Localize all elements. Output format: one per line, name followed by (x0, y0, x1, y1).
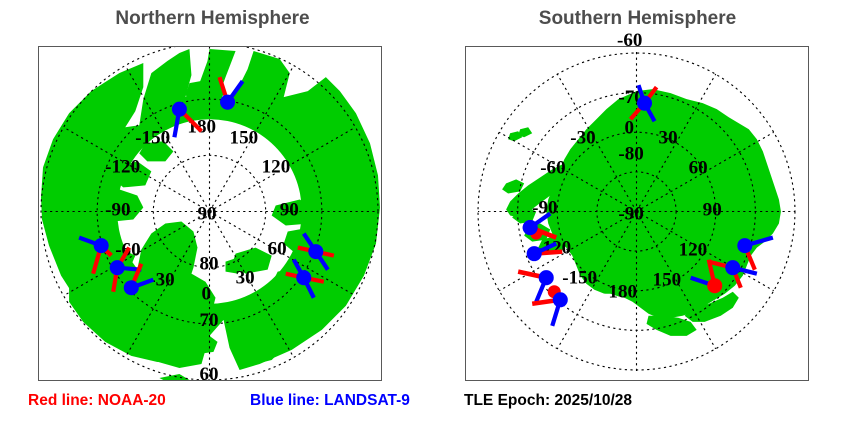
southern-lat-label-neg60: -60 (617, 30, 642, 52)
sat-marker (637, 96, 652, 111)
lon-label-neg30: -30 (570, 127, 595, 148)
lat-label-neg90: -90 (618, 204, 643, 225)
southern-polar-plot: 0 30 60 90 120 150 180 -150 -120 -90 -60… (466, 47, 808, 380)
lat-label-neg80: -80 (618, 143, 643, 164)
northern-hemisphere-panel: Northern Hemisphere (0, 0, 425, 390)
lat-label-80: 80 (199, 254, 218, 275)
sat-marker-group (532, 285, 568, 326)
southern-plot-frame: 0 30 60 90 120 150 180 -150 -120 -90 -60… (465, 46, 809, 381)
lon-label-90: 90 (280, 200, 299, 221)
sat-marker-group (518, 270, 554, 302)
lon-label-neg60: -60 (540, 157, 565, 178)
lon-label-60: 60 (689, 157, 708, 178)
southern-hemisphere-title: Southern Hemisphere (425, 8, 850, 30)
sat-marker (124, 280, 139, 295)
northern-hemisphere-title: Northern Hemisphere (0, 8, 425, 30)
sat-marker (220, 95, 235, 110)
lon-label-neg90: -90 (105, 200, 130, 221)
southern-hemisphere-panel: Southern Hemisphere (425, 0, 850, 390)
sat-marker (94, 238, 109, 253)
lat-label-90: 90 (197, 204, 216, 225)
sat-marker (527, 246, 542, 261)
sat-marker (172, 102, 187, 117)
sat-marker (110, 260, 125, 275)
legend: Red line: NOAA-20 Blue line: LANDSAT-9 T… (0, 392, 850, 425)
lon-label-120: 120 (679, 240, 708, 261)
lon-label-150: 150 (230, 127, 259, 148)
lon-label-90: 90 (703, 200, 722, 221)
legend-red-line: Red line: NOAA-20 (28, 392, 166, 410)
lon-label-0: 0 (201, 284, 211, 305)
sat-marker (308, 244, 323, 259)
lon-label-30: 30 (659, 127, 678, 148)
sat-marker (539, 270, 554, 285)
northern-polar-plot: 0 30 60 90 120 150 180 -150 -120 -90 -60… (39, 47, 381, 380)
lat-label-70: 70 (199, 310, 218, 331)
lon-label-150: 150 (653, 270, 682, 291)
sat-marker (553, 292, 568, 307)
northern-plot-frame: 0 30 60 90 120 150 180 -150 -120 -90 -60… (38, 46, 382, 381)
lon-label-neg150: -150 (562, 268, 597, 289)
lon-label-30: 30 (236, 268, 255, 289)
lon-label-60: 60 (268, 239, 287, 260)
lon-label-0: 0 (624, 117, 634, 138)
lat-label-60: 60 (199, 364, 218, 380)
lon-label-120: 120 (262, 156, 291, 177)
legend-tle-epoch: TLE Epoch: 2025/10/28 (464, 392, 632, 410)
lon-label-neg150: -150 (135, 127, 170, 148)
sat-marker (296, 270, 311, 285)
sat-marker (725, 260, 740, 275)
legend-blue-line: Blue line: LANDSAT-9 (250, 392, 410, 410)
sat-marker (737, 238, 752, 253)
screenshot-root: Northern Hemisphere (0, 0, 850, 425)
lon-label-neg120: -120 (105, 156, 140, 177)
sat-marker-alt (707, 278, 722, 293)
lon-label-180: 180 (608, 282, 637, 303)
